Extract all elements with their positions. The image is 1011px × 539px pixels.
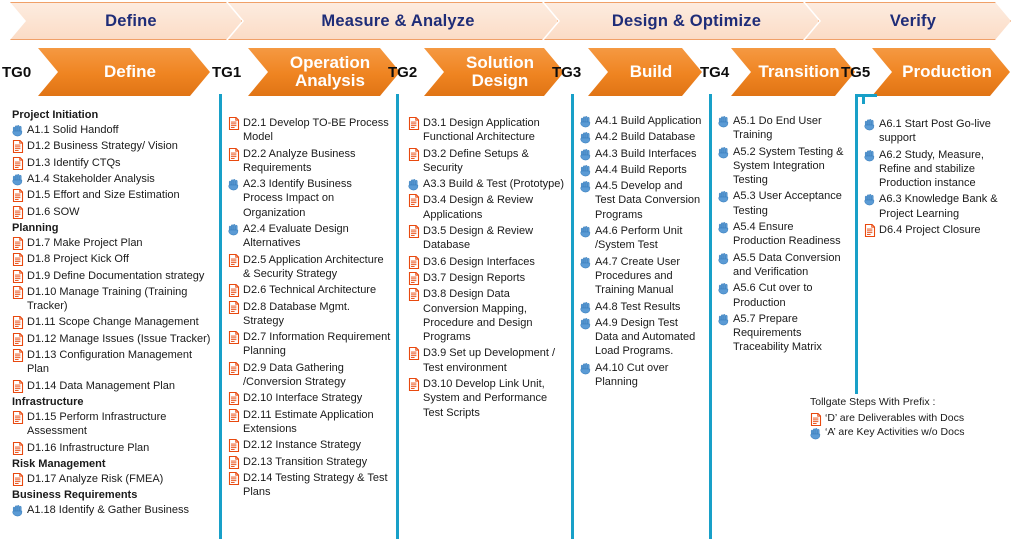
list-item-label: D1.16 Infrastructure Plan [27,441,212,455]
column-divider-1 [396,94,399,539]
list-item[interactable]: D3.6 Design Interfaces [408,255,566,269]
list-item-label: A5.6 Cut over to Production [733,281,846,310]
list-item-label: D1.12 Manage Issues (Issue Tracker) [27,332,212,346]
list-item[interactable]: D1.7 Make Project Plan [12,236,212,250]
tollgate-marker-tg2: TG2 [388,48,417,96]
list-item-label: D1.7 Make Project Plan [27,236,212,250]
activity-icon [12,124,24,137]
phase-label: Design & Optimize [602,12,761,31]
column-divider-0 [219,94,222,539]
group-heading: Infrastructure [12,395,212,409]
tollgate-marker-tg1: TG1 [212,48,241,96]
list-item[interactable]: D1.11 Scope Change Management [12,315,212,329]
list-item[interactable]: A4.7 Create User Procedures and Training… [580,255,702,298]
list-item-label: D1.10 Manage Training (Training Tracker) [27,285,212,314]
list-item[interactable]: A6.1 Start Post Go-live support [864,117,1006,146]
document-icon [228,472,240,485]
document-icon [12,237,24,250]
list-item[interactable]: A6.3 Knowledge Bank & Project Learning [864,192,1006,221]
list-item-label: A4.4 Build Reports [595,163,702,177]
gate-chevron-tg5: Production [872,48,1010,96]
gate-label: Build [630,63,673,81]
document-icon [408,148,420,161]
list-item-label: D3.8 Design Data Conversion Mapping, Pro… [423,287,566,344]
list-item[interactable]: D2.12 Instance Strategy [228,438,393,452]
document-icon [228,409,240,422]
list-item[interactable]: D2.6 Technical Architecture [228,283,393,297]
list-item[interactable]: A4.6 Perform Unit /System Test [580,224,702,253]
list-item[interactable]: A2.3 Identify Business Process Impact on… [228,177,393,220]
activity-icon [580,180,592,193]
list-item[interactable]: A1.1 Solid Handoff [12,123,212,137]
document-icon [228,362,240,375]
gate-chevron-tg2: Solution Design [424,48,564,96]
list-item-label: A4.7 Create User Procedures and Training… [595,255,702,298]
document-icon [228,284,240,297]
list-item[interactable]: D3.10 Develop Link Unit, System and Perf… [408,377,566,420]
list-item[interactable]: A4.10 Cut over Planning [580,361,702,390]
list-item-label: D3.1 Design Application Functional Archi… [423,116,566,145]
list-item-label: A5.2 System Testing & System Integration… [733,145,846,188]
document-icon [408,117,420,130]
list-item[interactable]: D2.5 Application Architecture & Security… [228,253,393,282]
activity-icon [718,221,730,234]
activity-icon [718,313,730,326]
list-item-label: D2.11 Estimate Application Extensions [243,408,393,437]
list-item[interactable]: D1.16 Infrastructure Plan [12,441,212,455]
list-item[interactable]: A4.3 Build Interfaces [580,147,702,161]
list-item[interactable]: A5.5 Data Conversion and Verification [718,251,846,280]
list-item-label: A4.9 Design Test Data and Automated Load… [595,316,702,359]
list-item[interactable]: D3.4 Design & Review Applications [408,193,566,222]
list-item[interactable]: D2.1 Develop TO-BE Process Model [228,116,393,145]
list-item-label: A5.3 User Acceptance Testing [733,189,846,218]
list-item-label: D1.5 Effort and Size Estimation [27,188,212,202]
gate-chevron-tg4: Transition [731,48,855,96]
list-item-label: A5.4 Ensure Production Readiness [733,220,846,249]
list-item[interactable]: D3.2 Define Setups & Security [408,147,566,176]
list-item-label: D2.2 Analyze Business Requirements [243,147,393,176]
document-icon [12,442,24,455]
list-item-label: D3.10 Develop Link Unit, System and Perf… [423,377,566,420]
list-item-label: D1.6 SOW [27,205,212,219]
document-icon [12,140,24,153]
list-item-label: D2.12 Instance Strategy [243,438,393,452]
gate-label: Operation Analysis [290,54,370,90]
document-icon [12,270,24,283]
list-item[interactable]: A4.9 Design Test Data and Automated Load… [580,316,702,359]
list-item[interactable]: D1.13 Configuration Management Plan [12,348,212,377]
list-item[interactable]: A4.2 Build Database [580,130,702,144]
document-icon [408,256,420,269]
activity-icon [580,131,592,144]
list-item-label: D6.4 Project Closure [879,223,1006,237]
list-item[interactable]: D2.9 Data Gathering /Conversion Strategy [228,361,393,390]
list-item-label: A5.5 Data Conversion and Verification [733,251,846,280]
list-item[interactable]: D2.11 Estimate Application Extensions [228,408,393,437]
list-item-label: D3.5 Design & Review Database [423,224,566,253]
list-item[interactable]: A4.8 Test Results [580,300,702,314]
document-icon [408,225,420,238]
tollgate-marker-tg3: TG3 [552,48,581,96]
legend-item-label: ‘D’ are Deliverables with Docs [825,412,1010,426]
list-item[interactable]: A5.2 System Testing & System Integration… [718,145,846,188]
group-heading: Risk Management [12,457,212,471]
phase-chevron-0: Define [10,2,242,40]
list-item-label: D2.13 Transition Strategy [243,455,393,469]
column-define: Project InitiationA1.1 Solid HandoffD1.2… [12,108,212,520]
list-item[interactable]: A1.4 Stakeholder Analysis [12,172,212,186]
document-icon [228,301,240,314]
list-item[interactable]: D1.2 Business Strategy/ Vision [12,139,212,153]
legend-entries: ‘D’ are Deliverables with Docs‘A’ are Ke… [810,412,1010,440]
activity-icon [580,164,592,177]
activity-icon [718,252,730,265]
list-item-label: D3.6 Design Interfaces [423,255,566,269]
activity-icon [408,178,420,191]
activity-icon [864,118,876,131]
activity-icon [228,223,240,236]
legend-item-label: ‘A’ are Key Activities w/o Docs [825,426,1010,440]
group-heading: Project Initiation [12,108,212,122]
list-item-label: A5.1 Do End User Training [733,114,846,143]
list-item-label: D1.9 Define Documentation strategy [27,269,212,283]
list-item[interactable]: A3.3 Build & Test (Prototype) [408,177,566,191]
phase-banner: DefineMeasure & AnalyzeDesign & Optimize… [0,2,1011,40]
tollgate-marker-tg0: TG0 [2,48,31,96]
phase-label: Measure & Analyze [311,12,474,31]
document-icon [12,333,24,346]
document-icon [408,347,420,360]
legend: Tollgate Steps With Prefix : ‘D’ are Del… [810,396,1010,441]
gate-chevron-tg0: Define [38,48,210,96]
activity-icon [580,317,592,330]
activity-icon [228,178,240,191]
document-icon [408,288,420,301]
gate-chevron-tg3: Build [588,48,702,96]
document-icon [12,411,24,424]
list-item-label: D2.7 Information Requirement Planning [243,330,393,359]
activity-icon [718,282,730,295]
list-item-label: A2.3 Identify Business Process Impact on… [243,177,393,220]
list-item-label: D3.7 Design Reports [423,271,566,285]
document-icon [228,331,240,344]
list-item-label: D2.1 Develop TO-BE Process Model [243,116,393,145]
list-item-label: D1.11 Scope Change Management [27,315,212,329]
tollgate-marker-tg5: TG5 [841,48,870,96]
activity-icon [718,146,730,159]
list-item[interactable]: A6.2 Study, Measure, Refine and stabiliz… [864,148,1006,191]
list-item-label: D2.14 Testing Strategy & Test Plans [243,471,393,500]
document-icon [228,117,240,130]
phase-chevron-3: Verify [805,2,1011,40]
list-item-label: D3.2 Define Setups & Security [423,147,566,176]
list-item[interactable]: A4.4 Build Reports [580,163,702,177]
activity-icon [580,256,592,269]
list-item-label: A4.1 Build Application [595,114,702,128]
list-item-label: D2.6 Technical Architecture [243,283,393,297]
column-operation-analysis: D2.1 Develop TO-BE Process ModelD2.2 Ana… [228,116,393,501]
column-divider-2 [571,94,574,539]
list-item[interactable]: D3.7 Design Reports [408,271,566,285]
list-item-label: A2.4 Evaluate Design Alternatives [243,222,393,251]
list-item[interactable]: D1.8 Project Kick Off [12,252,212,266]
document-icon [12,189,24,202]
list-item[interactable]: D3.1 Design Application Functional Archi… [408,116,566,145]
list-item-label: A4.6 Perform Unit /System Test [595,224,702,253]
gate-label: Production [902,63,992,81]
list-item[interactable]: D6.4 Project Closure [864,223,1006,237]
list-item[interactable]: A5.3 User Acceptance Testing [718,189,846,218]
list-item-label: D1.3 Identify CTQs [27,156,212,170]
list-item-label: A3.3 Build & Test (Prototype) [423,177,566,191]
document-icon [228,148,240,161]
document-icon [12,157,24,170]
list-item-label: A4.5 Develop and Test Data Conversion Pr… [595,179,702,222]
list-item-label: A6.1 Start Post Go-live support [879,117,1006,146]
gate-label: Solution Design [466,54,534,90]
document-icon [12,253,24,266]
column-transition: A5.1 Do End User TrainingA5.2 System Tes… [718,114,846,357]
list-item-label: A4.10 Cut over Planning [595,361,702,390]
list-item[interactable]: A2.4 Evaluate Design Alternatives [228,222,393,251]
list-item[interactable]: A1.18 Identify & Gather Business [12,503,212,517]
legend-item: ‘A’ are Key Activities w/o Docs [810,426,1010,440]
activity-icon [810,427,822,440]
document-icon [12,349,24,362]
document-icon [12,206,24,219]
document-icon [810,413,822,426]
list-item[interactable]: D1.10 Manage Training (Training Tracker) [12,285,212,314]
phase-chevron-1: Measure & Analyze [228,2,558,40]
list-item[interactable]: D1.5 Effort and Size Estimation [12,188,212,202]
list-item-label: D1.15 Perform Infrastructure Assessment [27,410,212,439]
list-item[interactable]: D2.8 Database Mgmt. Strategy [228,300,393,329]
list-item-label: A6.3 Knowledge Bank & Project Learning [879,192,1006,221]
legend-title: Tollgate Steps With Prefix : [810,396,1010,410]
list-item-label: A5.7 Prepare Requirements Traceability M… [733,312,846,355]
tollgate-row: TG0DefineTG1Operation AnalysisTG2Solutio… [0,48,1011,96]
phase-label: Define [95,12,157,31]
list-item[interactable]: D1.3 Identify CTQs [12,156,212,170]
list-item[interactable]: D3.9 Set up Development / Test environme… [408,346,566,375]
list-item[interactable]: D2.13 Transition Strategy [228,455,393,469]
list-item-label: D2.9 Data Gathering /Conversion Strategy [243,361,393,390]
activity-icon [580,301,592,314]
activity-icon [12,504,24,517]
phase-roadmap-diagram: DefineMeasure & AnalyzeDesign & Optimize… [0,0,1011,539]
list-item-label: D2.10 Interface Strategy [243,391,393,405]
document-icon [228,456,240,469]
document-icon [408,272,420,285]
list-item[interactable]: D1.15 Perform Infrastructure Assessment [12,410,212,439]
column-production: A6.1 Start Post Go-live supportA6.2 Stud… [864,117,1006,239]
list-item[interactable]: A5.7 Prepare Requirements Traceability M… [718,312,846,355]
production-bracket [855,94,877,97]
list-item[interactable]: D2.14 Testing Strategy & Test Plans [228,471,393,500]
list-item[interactable]: A5.4 Ensure Production Readiness [718,220,846,249]
legend-item: ‘D’ are Deliverables with Docs [810,412,1010,426]
list-item[interactable]: D3.8 Design Data Conversion Mapping, Pro… [408,287,566,344]
activity-icon [580,115,592,128]
list-item-label: D2.8 Database Mgmt. Strategy [243,300,393,329]
list-item[interactable]: A4.5 Develop and Test Data Conversion Pr… [580,179,702,222]
activity-icon [580,148,592,161]
list-item-label: A1.1 Solid Handoff [27,123,212,137]
document-icon [408,194,420,207]
document-icon [408,378,420,391]
document-icon [228,392,240,405]
list-item-label: D1.17 Analyze Risk (FMEA) [27,472,212,486]
column-build: A4.1 Build ApplicationA4.2 Build Databas… [580,114,702,391]
column-divider-3 [709,94,712,539]
phase-chevron-2: Design & Optimize [544,2,819,40]
document-icon [864,224,876,237]
column-solution-design: D3.1 Design Application Functional Archi… [408,116,566,422]
activity-icon [580,362,592,375]
list-item[interactable]: D1.14 Data Management Plan [12,379,212,393]
phase-label: Verify [880,12,936,31]
list-item-label: D1.13 Configuration Management Plan [27,348,212,377]
list-item-label: A4.3 Build Interfaces [595,147,702,161]
list-item[interactable]: D1.6 SOW [12,205,212,219]
list-item-label: D2.5 Application Architecture & Security… [243,253,393,282]
list-item-label: D1.14 Data Management Plan [27,379,212,393]
document-icon [12,380,24,393]
activity-icon [12,173,24,186]
gate-label: Define [104,63,156,81]
list-item-label: A4.8 Test Results [595,300,702,314]
activity-icon [864,149,876,162]
group-heading: Business Requirements [12,488,212,502]
list-item[interactable]: D3.5 Design & Review Database [408,224,566,253]
list-item[interactable]: A4.1 Build Application [580,114,702,128]
activity-icon [718,190,730,203]
list-item-label: D3.9 Set up Development / Test environme… [423,346,566,375]
group-heading: Planning [12,221,212,235]
list-item-label: D1.2 Business Strategy/ Vision [27,139,212,153]
list-item[interactable]: D1.9 Define Documentation strategy [12,269,212,283]
document-icon [228,254,240,267]
column-divider-4 [855,94,858,394]
activity-icon [718,115,730,128]
list-item[interactable]: D1.12 Manage Issues (Issue Tracker) [12,332,212,346]
list-item[interactable]: D2.2 Analyze Business Requirements [228,147,393,176]
activity-icon [580,225,592,238]
document-icon [12,316,24,329]
document-icon [12,473,24,486]
tollgate-marker-tg4: TG4 [700,48,729,96]
list-item-label: A1.18 Identify & Gather Business [27,503,212,517]
list-item[interactable]: D2.10 Interface Strategy [228,391,393,405]
list-item[interactable]: D1.17 Analyze Risk (FMEA) [12,472,212,486]
list-item-label: D3.4 Design & Review Applications [423,193,566,222]
list-item[interactable]: A5.1 Do End User Training [718,114,846,143]
list-item[interactable]: D2.7 Information Requirement Planning [228,330,393,359]
activity-icon [864,193,876,206]
gate-label: Transition [758,63,839,81]
list-item-label: A4.2 Build Database [595,130,702,144]
document-icon [228,439,240,452]
list-item-label: D1.8 Project Kick Off [27,252,212,266]
list-item-label: A1.4 Stakeholder Analysis [27,172,212,186]
gate-chevron-tg1: Operation Analysis [248,48,400,96]
list-item[interactable]: A5.6 Cut over to Production [718,281,846,310]
document-icon [12,286,24,299]
list-item-label: A6.2 Study, Measure, Refine and stabiliz… [879,148,1006,191]
